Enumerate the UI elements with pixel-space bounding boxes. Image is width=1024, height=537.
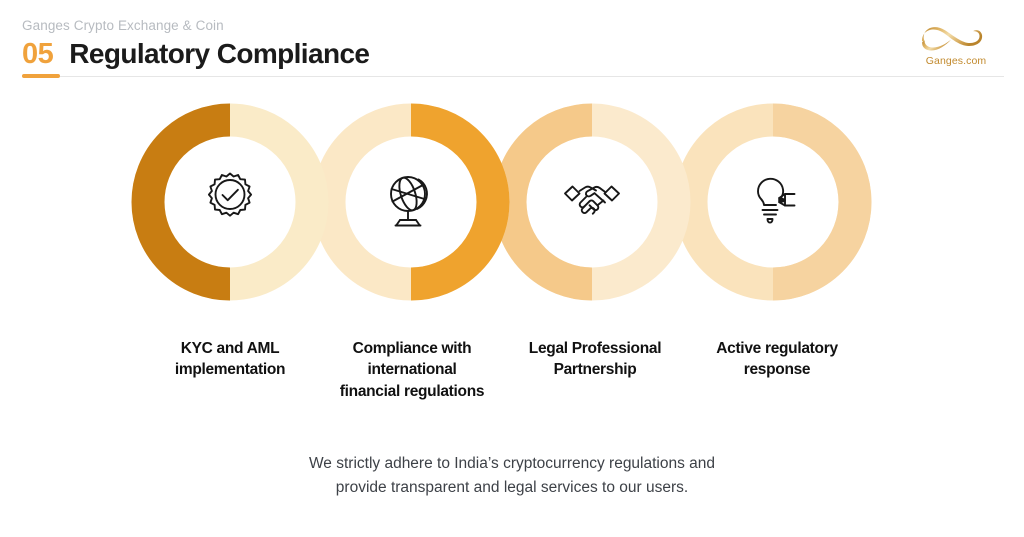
ganges-infinity-wave-icon [918,22,994,54]
ring-3 [510,120,674,284]
footnote-line-2: provide transparent and legal services t… [0,476,1024,500]
section-number: 05 [22,40,53,69]
page-title: Regulatory Compliance [69,40,369,68]
step-label-3: Legal Professional Partnership [509,338,681,381]
process-ring-chain [0,100,1024,305]
brand-logo[interactable]: Ganges.com [910,22,1002,74]
step-label-1-line-1: KYC and AML [150,338,310,359]
ring-2 [329,120,493,284]
step-label-2-line-2: international [323,359,501,380]
step-label-4-line-2: response [692,359,862,380]
step-label-4: Active regulatory response [692,338,862,381]
slide-root: Ganges Crypto Exchange & Coin 05 Regulat… [0,0,1024,537]
step-label-1: KYC and AML implementation [150,338,310,381]
slide-title-row: 05 Regulatory Compliance [22,40,369,69]
step-label-2-line-3: financial regulations [323,381,501,402]
footnote: We strictly adhere to India’s cryptocurr… [0,452,1024,500]
ring-1 [148,120,312,284]
header-divider-accent [22,74,60,78]
footnote-line-1: We strictly adhere to India’s cryptocurr… [0,452,1024,476]
header-divider [22,76,1004,77]
step-label-2-line-1: Compliance with [323,338,501,359]
slide-kicker: Ganges Crypto Exchange & Coin [22,18,224,33]
logo-wordmark: Ganges.com [926,55,987,67]
step-label-2: Compliance with international financial … [323,338,501,402]
ring-4 [691,120,855,284]
step-label-3-line-2: Partnership [509,359,681,380]
process-labels: KYC and AML implementation Compliance wi… [0,338,1024,413]
step-label-4-line-1: Active regulatory [692,338,862,359]
step-label-1-line-2: implementation [150,359,310,380]
step-label-3-line-1: Legal Professional [509,338,681,359]
